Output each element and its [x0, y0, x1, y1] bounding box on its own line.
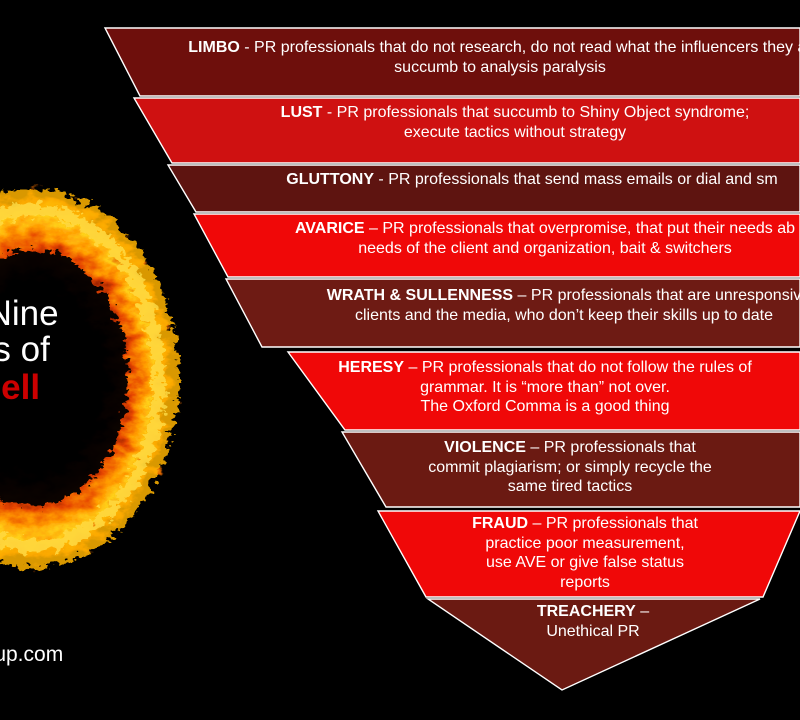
title-line-2: les of	[0, 332, 108, 368]
funnel-band-treachery[interactable]	[428, 599, 760, 690]
funnel-band-gluttony[interactable]	[168, 165, 800, 212]
funnel-band-wrath[interactable]	[226, 279, 800, 347]
author-byline: han, APR	[0, 586, 112, 608]
funnel-band-heresy[interactable]	[288, 352, 800, 430]
funnel-band-violence[interactable]	[342, 432, 800, 507]
funnel-diagram	[0, 0, 800, 720]
slide-canvas: LIMBO - PR professionals that do not res…	[0, 0, 800, 720]
page-title: e Nine les of Hell	[0, 296, 108, 406]
author-email[interactable]: @mslgroup.com	[0, 643, 180, 667]
title-line-3: Hell	[0, 367, 108, 406]
funnel-band-fraud[interactable]	[378, 511, 800, 597]
title-line-1: e Nine	[0, 296, 108, 332]
funnel-band-limbo[interactable]	[105, 28, 800, 96]
funnel-band-lust[interactable]	[134, 98, 800, 163]
funnel-band-avarice[interactable]	[194, 214, 800, 277]
